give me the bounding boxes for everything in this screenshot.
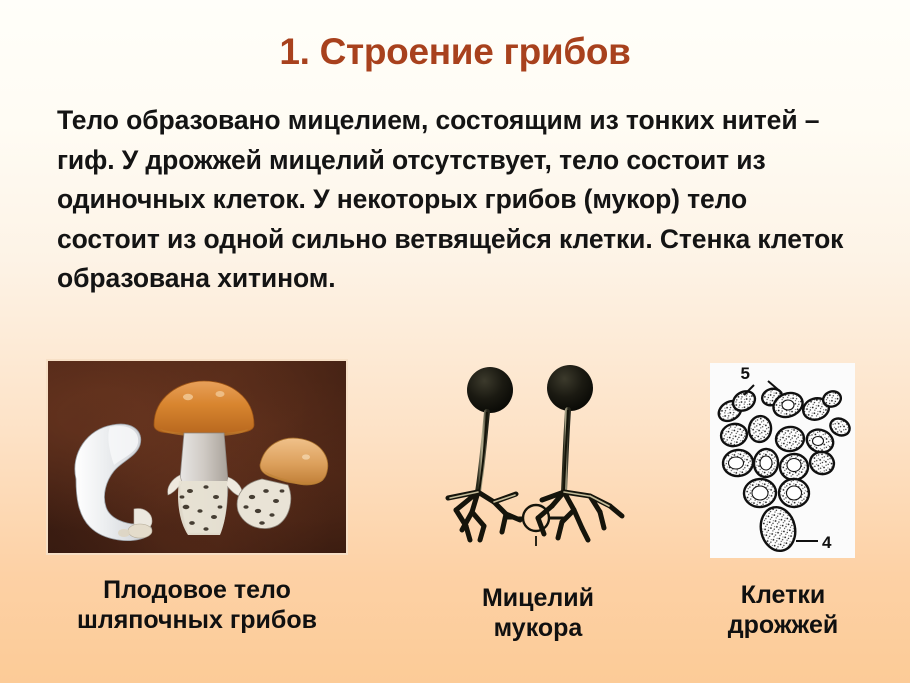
yeast-panel: 5 4 — [710, 363, 855, 558]
sporangiophore-left — [467, 367, 513, 492]
yeast-drawing: 5 4 — [710, 363, 855, 558]
mushroom-right — [237, 438, 328, 528]
mushroom-left — [75, 424, 152, 541]
yeast-cell-cluster — [715, 386, 853, 554]
mucor-drawing — [432, 360, 642, 552]
yeast-label-4: 4 — [822, 533, 832, 552]
caption-yeast-cells: Клетки дрожжей — [694, 580, 872, 640]
page-title: 1. Строение грибов — [0, 31, 910, 73]
mushroom-photo-content — [48, 361, 346, 553]
figure-mucor-mycelium — [432, 360, 642, 552]
sporangiophore-right — [547, 365, 593, 492]
caption-mucor-mycelium: Мицелий мукора — [432, 583, 644, 643]
slide-canvas: 1. Строение грибов Тело образовано мицел… — [0, 0, 910, 683]
yeast-label-5: 5 — [741, 364, 750, 383]
body-paragraph: Тело образовано мицелием, состоящим из т… — [57, 101, 857, 299]
figure-fruiting-body — [46, 359, 348, 555]
mushroom-photo — [46, 359, 348, 555]
figure-yeast-cells: 5 4 — [710, 363, 855, 558]
caption-fruiting-body: Плодовое тело шляпочных грибов — [36, 575, 358, 635]
